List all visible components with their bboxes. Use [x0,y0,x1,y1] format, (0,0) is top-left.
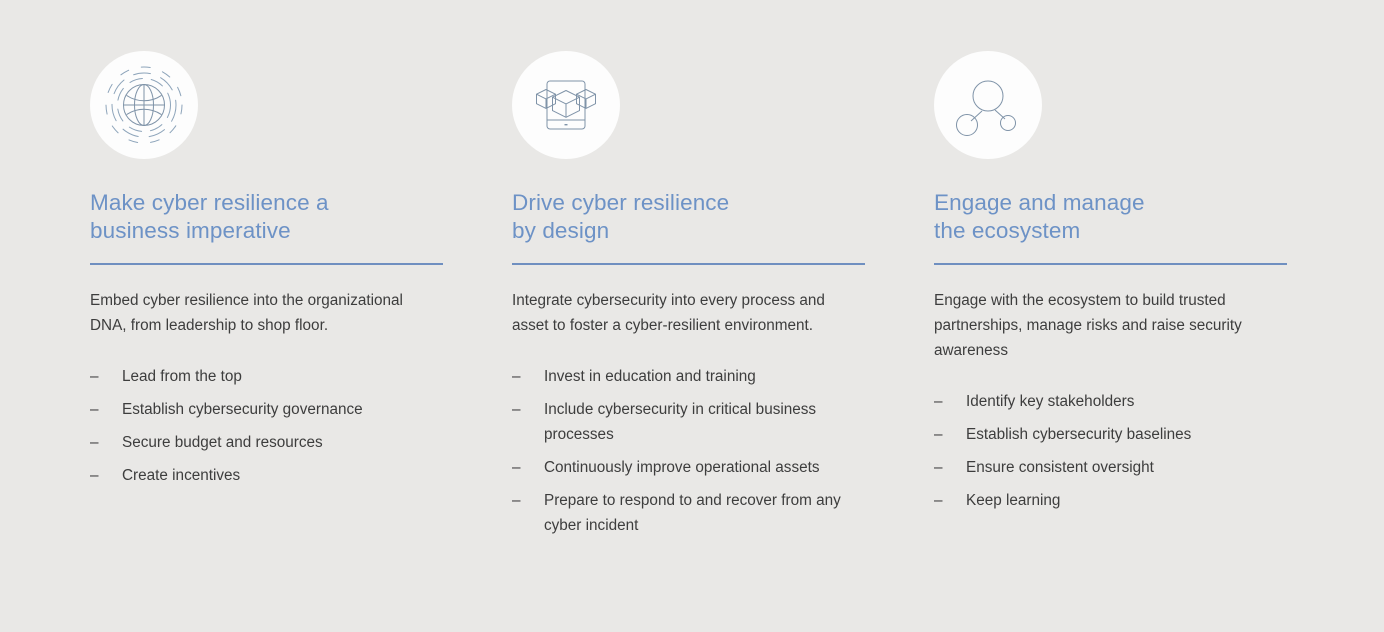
pillar-bullet-list: – Invest in education and training – Inc… [512,364,865,538]
pillar-bullet-list: – Lead from the top – Establish cybersec… [90,364,443,488]
list-item: – Establish cybersecurity governance [90,397,443,422]
node-hierarchy-icon [934,51,1042,159]
bullet-marker: – [512,397,544,447]
list-item: – Secure budget and resources [90,430,443,455]
list-item: – Create incentives [90,463,443,488]
page-title: Drive cyber resilience by design [512,189,865,245]
bullet-marker: – [512,488,544,538]
bullet-marker: – [934,422,966,447]
globe-network-icon [90,51,198,159]
bullet-marker: – [934,389,966,414]
list-item: – Identify key stakeholders [934,389,1287,414]
title-divider [512,263,865,265]
pillar-card-2: Drive cyber resilience by design Integra… [512,51,865,546]
list-item: – Include cybersecurity in critical busi… [512,397,865,447]
pillar-columns: Make cyber resilience a business imperat… [0,0,1384,546]
bullet-text: Ensure consistent oversight [966,455,1287,480]
bullet-marker: – [934,488,966,513]
bullet-marker: – [90,397,122,422]
bullet-text: Identify key stakeholders [966,389,1287,414]
list-item: – Invest in education and training [512,364,865,389]
list-item: – Ensure consistent oversight [934,455,1287,480]
pillar-card-1: Make cyber resilience a business imperat… [90,51,443,546]
title-divider [90,263,443,265]
pillar-card-3: Engage and manage the ecosystem Engage w… [934,51,1287,546]
list-item: – Keep learning [934,488,1287,513]
list-item: – Prepare to respond to and recover from… [512,488,865,538]
cyber-resilience-pillars-board: Make cyber resilience a business imperat… [0,0,1384,632]
pillar-lead-text: Engage with the ecosystem to build trust… [934,288,1279,363]
list-item: – Continuously improve operational asset… [512,455,865,480]
bullet-marker: – [934,455,966,480]
list-item: – Establish cybersecurity baselines [934,422,1287,447]
tablet-cubes-icon [512,51,620,159]
bullet-text: Lead from the top [122,364,443,389]
bullet-marker: – [90,463,122,488]
bullet-text: Secure budget and resources [122,430,443,455]
page-title: Engage and manage the ecosystem [934,189,1287,245]
page-title: Make cyber resilience a business imperat… [90,189,443,245]
bullet-text: Establish cybersecurity governance [122,397,443,422]
bullet-text: Continuously improve operational assets [544,455,865,480]
bullet-text: Keep learning [966,488,1287,513]
title-divider [934,263,1287,265]
bullet-text: Include cybersecurity in critical busine… [544,397,865,447]
bullet-text: Prepare to respond to and recover from a… [544,488,865,538]
bullet-marker: – [90,430,122,455]
pillar-lead-text: Integrate cybersecurity into every proce… [512,288,857,338]
bullet-text: Establish cybersecurity baselines [966,422,1287,447]
bullet-marker: – [512,364,544,389]
pillar-bullet-list: – Identify key stakeholders – Establish … [934,389,1287,513]
pillar-lead-text: Embed cyber resilience into the organiza… [90,288,435,338]
bullet-marker: – [90,364,122,389]
bullet-text: Invest in education and training [544,364,865,389]
list-item: – Lead from the top [90,364,443,389]
bullet-text: Create incentives [122,463,443,488]
bullet-marker: – [512,455,544,480]
